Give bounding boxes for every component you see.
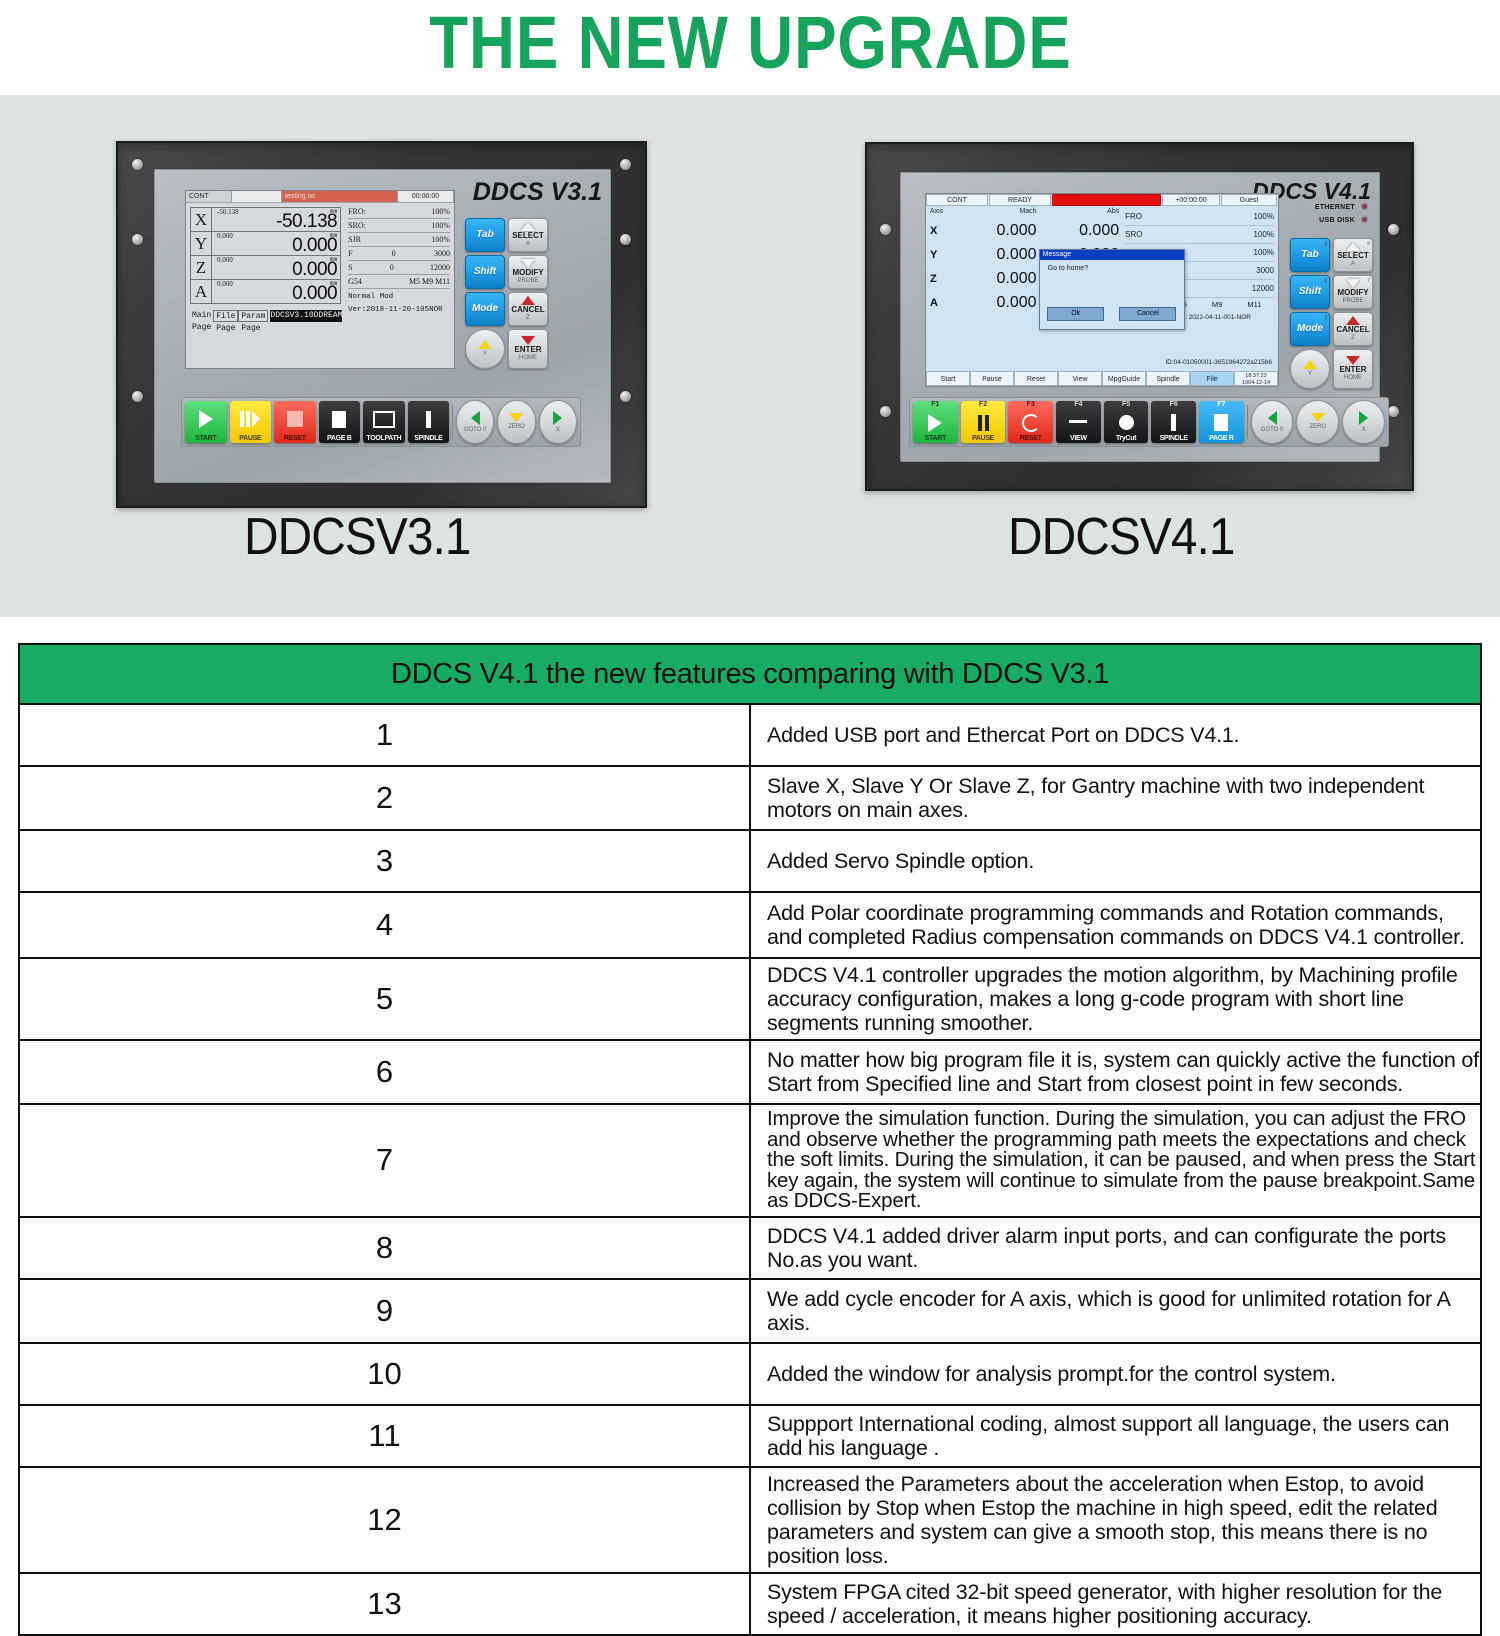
key-sublabel: A [526,240,530,248]
v41-axis-abs: 0.000 [1037,222,1120,240]
screw [132,159,143,170]
screw [1388,224,1399,235]
v31-param-mcodes: M5 M9 M11 [409,275,450,288]
arrow-down-icon [521,336,535,345]
v41-tab-reset[interactable]: Reset [1014,371,1058,386]
v31-axis-mach: -50.138 [217,208,239,216]
key-select-a[interactable]: 9 SELECT A [1333,238,1373,272]
key-label: Tab [476,231,493,239]
v41-bottom-tabs: Start Pause Reset View MpgGuide Spindle … [926,371,1278,386]
button-view[interactable]: F4 VIEW [1056,401,1101,443]
arrow-down-icon [509,413,523,422]
screw [880,406,891,417]
table-row: 2 Slave X, Slave Y Or Slave Z, for Gantr… [19,766,1481,830]
v31-axis-label: Z [191,256,212,279]
dialog-title: Message [1040,250,1184,260]
button-page-r[interactable]: F7 PAGE R [1199,401,1244,443]
v31-param-g54: G54 M5 M9 M11 [348,275,450,289]
row-number: 12 [19,1467,750,1573]
row-number: 1 [19,704,750,766]
button-corner-label: F3 [1027,401,1035,408]
key-corner-number: 3 [1324,314,1327,322]
key-sublabel: Z [526,314,530,322]
table-row: 4 Add Polar coordinate programming comma… [19,892,1481,958]
row-number: 9 [19,1279,750,1343]
v31-param-s: S 0 12000 [348,261,450,275]
key-sublabel: PROBE [517,277,538,285]
v41-axis-row-x: X 0.000 0.000 [930,219,1119,243]
v31-param-fro: FRO: 100% [348,205,450,219]
v31-axis-mach: 0.000 [217,280,233,288]
key-label: Shift [1299,288,1321,296]
table-row: 1 Added USB port and Ethercat Port on DD… [19,704,1481,766]
key-tab[interactable]: Tab [465,218,505,252]
v41-param-value: 12000 [1252,280,1274,297]
v31-axis-row-z: Z 0.000 mm 0.000 [191,256,340,280]
v31-param-sjr: SJR 100% [348,233,450,247]
key-label: Y [1308,370,1312,378]
row-description: Suppport International coding, almost su… [750,1405,1481,1467]
button-spindle[interactable]: F6 SPINDLE [1151,401,1196,443]
key-label: ENTER [1339,366,1366,374]
button-toolpath[interactable]: TOOLPATH [363,401,405,443]
banner: THE NEW UPGRADE [0,0,1500,95]
row-number: 6 [19,1040,750,1104]
caption-v31: DDCSV3.1 [244,507,471,567]
button-spindle[interactable]: SPINDLE [408,401,450,443]
row-description: DDCS V4.1 controller upgrades the motion… [750,958,1481,1040]
button-corner-label: F5 [1122,401,1130,408]
row-description: Add Polar coordinate programming command… [750,892,1481,958]
divider [1247,405,1248,439]
v41-axis-label: X [930,225,954,237]
screw [132,234,143,245]
button-start[interactable]: F1 START [913,401,958,443]
v41-param-label: FRO [1125,208,1142,225]
key-label: ZERO [1310,423,1327,431]
key-label: SELECT [1337,252,1369,260]
v31-param-value: 100% [431,205,450,218]
v31-axis-mach: 0.000 [217,232,233,240]
v41-col-mach: Mach [954,208,1037,219]
v41-clock-time: 18:37:23 [1235,373,1277,380]
v31-blank-cell [232,191,282,202]
button-corner-label: F6 [1170,401,1178,408]
table-row: 12 Increased the Parameters about the ac… [19,1467,1481,1573]
arrow-up-icon [521,296,535,305]
key-label: X [556,426,560,434]
v41-axis-mach: 0.000 [954,294,1037,312]
dialog-cancel-button[interactable]: Cancel [1119,307,1176,321]
key-label: SELECT [512,232,544,240]
key-sublabel: PROBE [1342,297,1363,305]
v41-axis-mach: 0.000 [954,222,1037,240]
controller-v41-function-strip: F1 START F2 PAUSE F3 RESET F4 VI [909,397,1389,447]
button-label: SPINDLE [1151,435,1196,442]
controller-v41-screen: CONT READY +00:00:00 Guest Axis Mach Abs [925,193,1279,387]
button-corner-label: F4 [1074,401,1082,408]
row-description: Improve the simulation function. During … [750,1104,1481,1217]
v41-status-bar: CONT READY +00:00:00 Guest [926,194,1278,206]
divider [452,405,453,439]
key-label: Shift [474,268,496,276]
v31-param-value: 12000 [430,261,450,274]
button-trycut[interactable]: F5 TryCut [1104,401,1149,443]
v31-mode-indicator: CONT [186,191,232,202]
controller-v31-device: DDCS V3.1 CONT testing.txt 00:00:00 X [116,141,647,508]
v31-status-bar: CONT testing.txt 00:00:00 [186,191,454,203]
key-sublabel: Z [1351,334,1355,342]
key-modify-probe[interactable]: 7 MODIFY PROBE [1333,275,1373,309]
v41-param-value: 3000 [1256,262,1274,279]
v31-param-value: 100% [431,219,450,232]
v31-param-sro: SRO: 100% [348,219,450,233]
key-x[interactable]: X [539,400,577,444]
row-number: 8 [19,1217,750,1279]
v41-tab-start[interactable]: Start [926,371,970,386]
v41-param-sro: SRO 100% [1125,226,1274,244]
button-label: SPINDLE [408,435,450,442]
button-label: TOOLPATH [363,435,405,442]
v41-tab-view[interactable]: View [1058,371,1102,386]
key-label: GOTO 0 [1261,426,1284,434]
v41-axis-label: Z [930,273,954,285]
arrow-up-icon [1346,242,1360,251]
v31-param-label: FRO: [348,205,366,218]
controller-v31-faceplate: DDCS V3.1 CONT testing.txt 00:00:00 X [154,169,611,483]
button-pause[interactable]: PAUSE [230,401,272,443]
key-goto-zero[interactable]: GOTO 0 [456,400,494,444]
v41-axis-mach: 0.000 [954,270,1037,288]
v41-col-abs: Abs [1037,208,1120,219]
key-modify-probe[interactable]: MODIFY PROBE [508,255,548,289]
row-number: 3 [19,830,750,892]
controller-v31-function-strip: START PAUSE RESET PAGE B TOOLPATH [181,397,581,447]
button-corner-label: F1 [931,401,939,408]
key-corner-number: 7 [1367,277,1370,285]
key-y-up[interactable]: Y [465,329,505,369]
arrow-down-icon [1311,413,1325,422]
v31-axis-value: 0.000 [292,235,337,257]
v31-param-mid: 0 [390,261,394,274]
table-row: 5 DDCS V4.1 controller upgrades the moti… [19,958,1481,1040]
screw [880,224,891,235]
v31-param-mid: 0 [392,247,396,260]
v31-page-tabs: Main Page File Page Param Page DDCSV3.10… [190,310,341,322]
screw [620,234,631,245]
screw [620,391,631,402]
key-zero[interactable]: ZERO [1296,400,1339,444]
row-number: 10 [19,1343,750,1405]
v41-col-axis: Axis [930,208,954,219]
key-corner-number: 2 [1324,240,1327,248]
key-y-up[interactable]: Y [1290,349,1330,389]
v41-mode-indicator: CONT [926,194,988,206]
v31-param-label: SJR [348,233,361,246]
key-label: Y [483,350,487,358]
feature-table-header: DDCS V4.1 the new features comparing wit… [19,644,1481,704]
arrow-down-icon [1346,279,1360,288]
feature-table-wrapper: DDCS V4.1 the new features comparing wit… [18,643,1482,1636]
controller-v31-brand: DDCS V3.1 [473,178,602,207]
v31-axis-value: 0.000 [292,283,337,305]
v31-filename: testing.txt [282,191,398,202]
hero-panel: DDCS V3.1 CONT testing.txt 00:00:00 X [0,95,1500,617]
button-start[interactable]: START [185,401,227,443]
arrow-down-icon [521,259,535,268]
arrow-right-icon [553,411,562,425]
key-sublabel: A [1351,260,1355,268]
key-corner-number: 6 [1324,277,1327,285]
v31-axis-table: X -50.138 mm -50.138 Y 0.000 [190,207,341,304]
caption-v41: DDCSV4.1 [1008,507,1235,567]
key-cancel-z[interactable]: CANCEL Z [1333,312,1373,346]
arrow-right-icon [1359,411,1368,425]
key-label: Mode [472,305,498,313]
table-row: 3 Added Servo Spindle option. [19,830,1481,892]
v41-axis-label: A [930,297,954,309]
screw [620,159,631,170]
v31-param-f: F 0 3000 [348,247,450,261]
v31-version-note: Ver:2018-11-20-105NOR [348,305,450,315]
key-label: MODIFY [512,269,543,277]
row-number: 2 [19,766,750,830]
row-description: Added Servo Spindle option. [750,830,1481,892]
v31-status-text: DDCSV3.10DDREAM [270,310,342,322]
row-description: We add cycle encoder for A axis, which i… [750,1279,1481,1343]
key-goto-zero[interactable]: GOTO 0 [1251,400,1294,444]
button-corner-label: F2 [979,401,987,408]
v41-param-label: SRO [1125,226,1142,243]
banner-title: THE NEW UPGRADE [429,6,1071,80]
key-x[interactable]: X [1342,400,1385,444]
screw [132,391,143,402]
controller-v41-faceplate: DDCS V4.1 ETHERNET USB DISK CONT READY +… [900,172,1380,462]
table-row: 11 Suppport International coding, almost… [19,1405,1481,1467]
controller-v31-screen: CONT testing.txt 00:00:00 X -50.138 mm [185,190,455,369]
button-reset[interactable]: F3 RESET [1008,401,1053,443]
v41-clock: 18:37:23 1904-12-14 [1234,371,1278,386]
v41-param-fro: FRO 100% [1125,208,1274,226]
led-label-usb-disk: USB DISK [1319,217,1355,224]
v31-param-value: 100% [431,233,450,246]
row-number: 13 [19,1573,750,1635]
v31-param-label: G54 [348,275,362,288]
v31-mode-note: Normal Mod [348,292,450,302]
v41-axis-mach: 0.000 [954,246,1037,264]
button-label: RESET [1008,435,1053,442]
row-number: 4 [19,892,750,958]
key-shift[interactable]: 6 Shift [1290,275,1330,309]
v31-axis-value: 0.000 [292,259,337,281]
feature-table: DDCS V4.1 the new features comparing wit… [18,643,1482,1636]
key-mode[interactable]: Mode [465,292,505,326]
button-page-b[interactable]: PAGE B [319,401,361,443]
table-row: 8 DDCS V4.1 added driver alarm input por… [19,1217,1481,1279]
v31-param-value: 3000 [434,247,450,260]
v41-clock-date: 1904-12-14 [1235,380,1277,387]
v31-axis-row-y: Y 0.000 mm 0.000 [191,232,340,256]
button-label: PAGE R [1199,435,1244,442]
v41-alarm-bar [1052,194,1161,206]
v31-elapsed-time: 00:00:00 [398,191,454,202]
key-label: CANCEL [1336,326,1369,334]
key-zero[interactable]: ZERO [497,400,535,444]
controller-v31-keypad: Tab SELECT A Shift MODIFY PROBE Mode CAN… [465,218,548,369]
arrow-left-icon [471,411,480,425]
v41-tab-file[interactable]: File [1190,371,1234,386]
key-sublabel: HOME [1344,374,1362,382]
button-label: START [913,435,958,442]
key-tab[interactable]: 2 Tab [1290,238,1330,272]
controller-v41-device: DDCS V4.1 ETHERNET USB DISK CONT READY +… [865,142,1414,491]
v41-axis-label: Y [930,249,954,261]
v31-axis-row-x: X -50.138 mm -50.138 [191,208,340,232]
row-description: System FPGA cited 32-bit speed generator… [750,1573,1481,1635]
row-description: No matter how big program file it is, sy… [750,1040,1481,1104]
v41-elapsed-time: +00:00:00 [1162,194,1220,206]
key-enter-home[interactable]: ENTER HOME [508,329,548,369]
table-row: 9 We add cycle encoder for A axis, which… [19,1279,1481,1343]
v41-tab-pause[interactable]: Pause [970,371,1014,386]
v41-mcode: M11 [1247,298,1261,312]
key-shift[interactable]: Shift [465,255,505,289]
key-label: ZERO [508,423,525,431]
v41-tab-spindle[interactable]: Spindle [1146,371,1190,386]
v41-device-id: ID:04-01050001-3651964272a215b6 [1165,359,1272,366]
v31-axis-row-a: A 0.000 mm 0.000 [191,280,340,303]
button-label: RESET [274,435,316,442]
button-reset[interactable]: RESET [274,401,316,443]
v41-param-value: 100% [1254,226,1274,243]
arrow-up-icon [1303,360,1317,369]
row-number: 5 [19,958,750,1040]
v31-axis-value: -50.138 [276,211,337,233]
row-description: DDCS V4.1 added driver alarm input ports… [750,1217,1481,1279]
row-description: Slave X, Slave Y Or Slave Z, for Gantry … [750,766,1481,830]
button-label: TryCut [1104,435,1149,442]
dialog-message: Go to home? [1040,260,1184,272]
key-label: Mode [1297,325,1323,333]
v41-mcode: M9 [1212,298,1222,312]
v41-user: Guest [1221,194,1277,206]
arrow-up-icon [521,222,535,231]
v31-tab-file-page[interactable]: File Page [213,310,238,322]
v31-params-panel: FRO: 100% SRO: 100% SJR 100% F [344,203,454,369]
ethernet-led-icon [1362,204,1367,209]
table-row: 7 Improve the simulation function. Durin… [19,1104,1481,1217]
key-label: MODIFY [1337,289,1368,297]
usb-disk-led-icon [1362,217,1367,222]
key-select-a[interactable]: SELECT A [508,218,548,252]
button-label: PAUSE [961,435,1006,442]
v31-axis-label: A [191,280,212,303]
key-label: CANCEL [511,306,544,314]
key-enter-home[interactable]: ENTER HOME [1333,349,1373,389]
v41-state-indicator: READY [989,194,1051,206]
v31-param-label: SRO: [348,219,366,232]
controller-v41-keypad: 2 Tab 9 SELECT A 6 Shift 7 MODIFY [1290,238,1373,389]
table-row: 6 No matter how big program file it is, … [19,1040,1481,1104]
v31-tab-param-page[interactable]: Param Page [238,310,268,322]
button-label: START [185,435,227,442]
v41-tab-mpgguide[interactable]: MpgGuide [1102,371,1146,386]
key-label: X [1362,426,1366,434]
v41-param-value: 100% [1254,244,1274,261]
row-description: Added USB port and Ethercat Port on DDCS… [750,704,1481,766]
row-number: 11 [19,1405,750,1467]
table-row: 13 System FPGA cited 32-bit speed genera… [19,1573,1481,1635]
v31-axis-label: X [191,208,212,231]
button-pause[interactable]: F2 PAUSE [961,401,1006,443]
button-corner-label: F7 [1217,401,1225,408]
v31-tab-main-page[interactable]: Main Page [190,310,213,322]
arrow-up-icon [1346,316,1360,325]
arrow-left-icon [1268,411,1277,425]
row-description: Increased the Parameters about the accel… [750,1467,1481,1573]
button-label: VIEW [1056,435,1101,442]
row-number: 7 [19,1104,750,1217]
dialog-ok-button[interactable]: Ok [1047,307,1104,321]
arrow-down-icon [1346,356,1360,365]
key-label: Tab [1301,251,1318,259]
led-label-ethernet: ETHERNET [1315,204,1355,211]
button-label: PAGE B [319,435,361,442]
arrow-up-icon [478,340,492,349]
v31-axis-mach: 0.000 [217,256,233,264]
key-cancel-z[interactable]: CANCEL Z [508,292,548,326]
key-label: ENTER [514,346,541,354]
key-mode[interactable]: 3 Mode [1290,312,1330,346]
row-description: Added the window for analysis prompt.for… [750,1343,1481,1405]
v41-param-value: 100% [1254,208,1274,225]
key-label: GOTO 0 [464,426,487,434]
screw [1388,406,1399,417]
key-sublabel: HOME [519,354,537,362]
key-corner-number: 9 [1367,240,1370,248]
button-label: PAUSE [230,435,272,442]
table-row: 10 Added the window for analysis prompt.… [19,1343,1481,1405]
v41-message-dialog: Message Go to home? Ok Cancel [1039,249,1185,330]
v31-axis-label: Y [191,232,212,255]
